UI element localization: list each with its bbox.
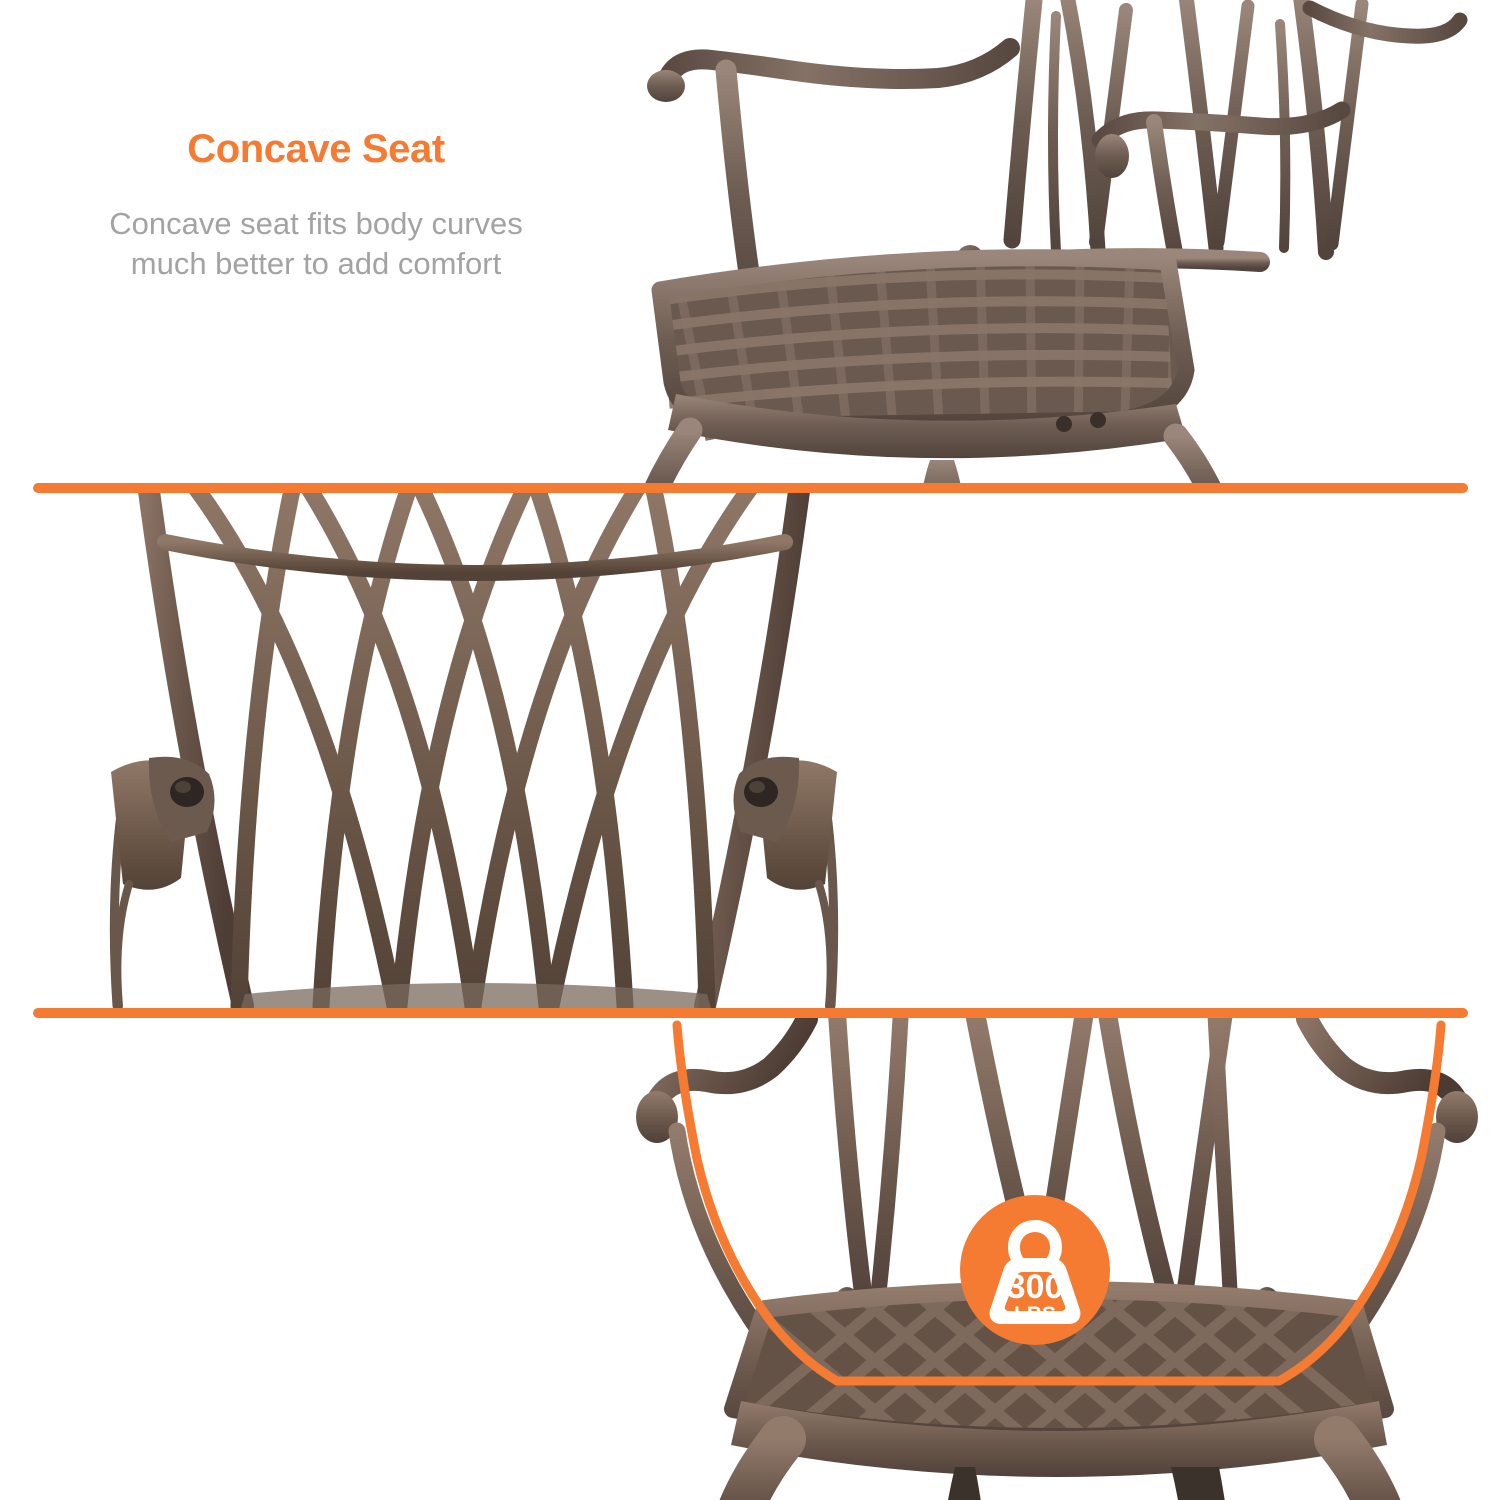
weight-capacity-badge: 300 LBS xyxy=(960,1195,1110,1345)
badge-value: 300 xyxy=(1007,1268,1064,1306)
panel-ergonomic-armrests: Ergonomic Armrests Streamlined armrests … xyxy=(0,1017,1500,1500)
divider-bottom xyxy=(33,1008,1468,1018)
weight-icon: 300 LBS xyxy=(983,1214,1087,1326)
infographic-root: Concave Seat Concave seat fits body curv… xyxy=(0,0,1500,1500)
text-block-concave-seat: Concave Seat Concave seat fits body curv… xyxy=(70,128,562,283)
feature-title-concave-seat: Concave Seat xyxy=(70,128,562,170)
chair-backrest-photo xyxy=(95,492,855,1012)
badge-unit: LBS xyxy=(1014,1303,1056,1326)
panel-high-backrest: High Backrest Hollowed backrest provides… xyxy=(0,492,1500,1012)
divider-top xyxy=(33,483,1468,493)
feature-desc-concave-seat: Concave seat fits body curves much bette… xyxy=(70,204,562,283)
chair-seat-photo xyxy=(620,0,1500,487)
panel-concave-seat: Concave Seat Concave seat fits body curv… xyxy=(0,0,1500,487)
